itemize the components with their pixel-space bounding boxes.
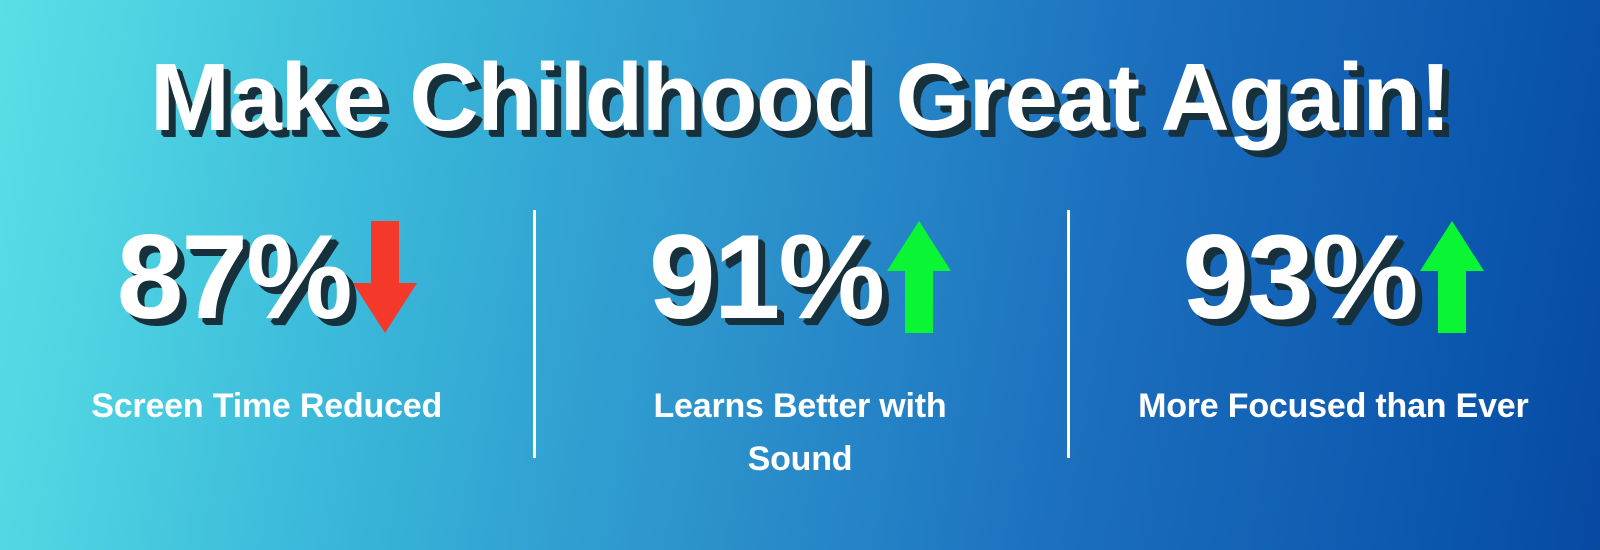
arrow-up-icon	[887, 221, 951, 333]
arrow-down-icon	[353, 221, 417, 333]
stats-row: 87% Screen Time Reduced 91% Learns Bette…	[0, 196, 1600, 496]
arrow-up-icon	[1420, 221, 1484, 333]
stat-label: Screen Time Reduced	[91, 380, 442, 433]
page-title: Make Childhood Great Again!	[0, 48, 1600, 148]
stat-block-focus: 93% More Focused than Ever	[1067, 196, 1600, 496]
stat-block-screen-time: 87% Screen Time Reduced	[0, 196, 533, 496]
stat-value-row: 87%	[117, 202, 417, 352]
stat-value: 93%	[1182, 217, 1416, 337]
stat-label: Learns Better with Sound	[600, 380, 1000, 486]
stat-value-row: 91%	[649, 202, 951, 352]
stats-banner: Make Childhood Great Again! 87% Screen T…	[0, 0, 1600, 550]
stat-value-row: 93%	[1182, 202, 1484, 352]
stat-label: More Focused than Ever	[1138, 380, 1528, 433]
stat-value: 91%	[649, 217, 883, 337]
stat-block-learning: 91% Learns Better with Sound	[533, 196, 1066, 496]
stat-value: 87%	[117, 217, 351, 337]
